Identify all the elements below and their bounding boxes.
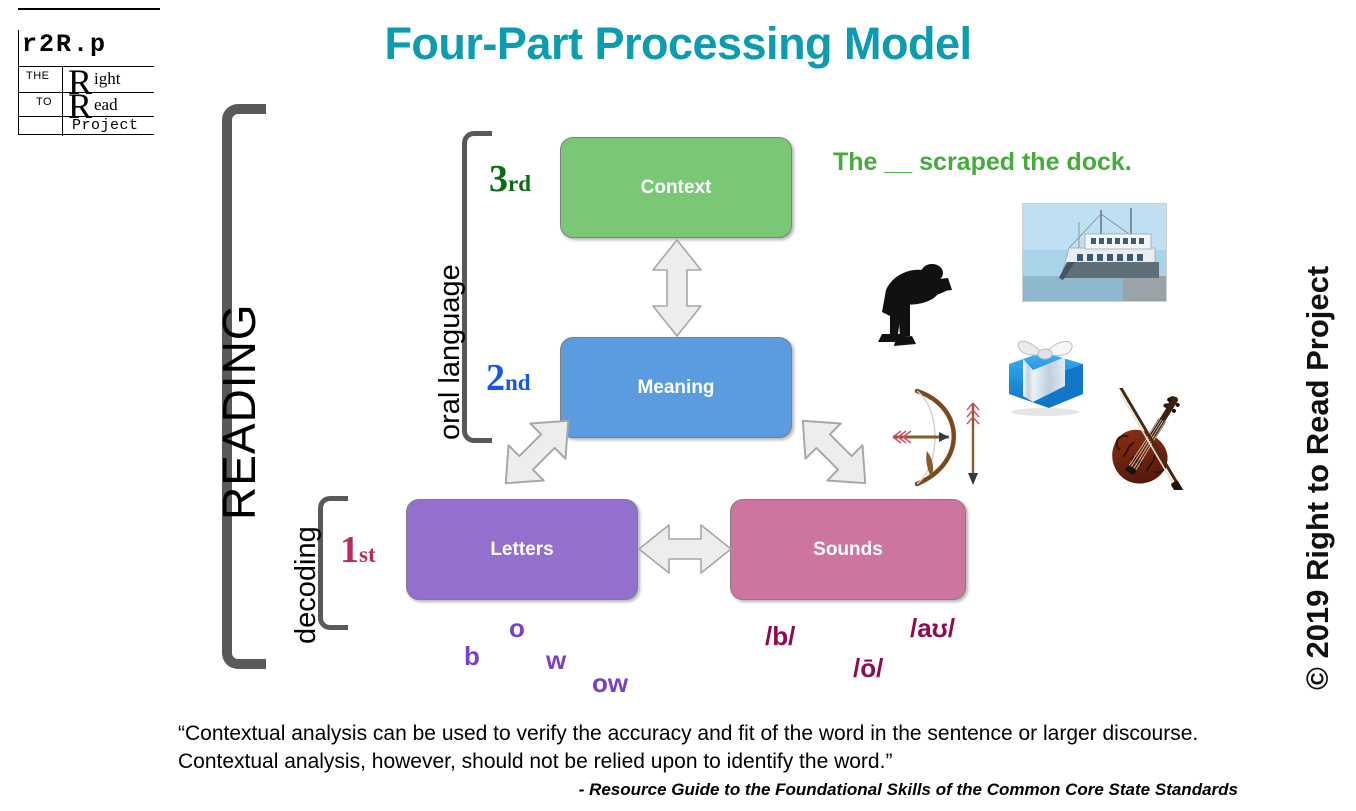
copyright-notice: © 2019 Right to Read Project [1300, 266, 1336, 690]
ordinal-second-number: 2 [486, 357, 505, 399]
decoding-label: decoding [290, 526, 323, 644]
logo-rule-4 [18, 134, 154, 135]
ordinal-third: 3rd [489, 157, 531, 201]
ordinal-second: 2nd [486, 356, 531, 400]
page-title: Four-Part Processing Model [0, 18, 1356, 70]
ordinal-second-suffix: nd [505, 370, 531, 395]
node-meaning-label: Meaning [637, 377, 714, 399]
logo-word-project: Project [72, 118, 139, 133]
arrow-letters-sounds [637, 521, 733, 577]
quote-attribution: - Resource Guide to the Foundational Ski… [178, 780, 1238, 800]
grapheme-b: b [464, 641, 480, 672]
node-sounds[interactable]: Sounds [730, 499, 966, 600]
ordinal-first-number: 1 [340, 529, 359, 571]
archery-bow-icon [887, 385, 999, 490]
logo-the-label: THE [26, 70, 50, 82]
node-meaning[interactable]: Meaning [560, 337, 792, 438]
ordinal-third-number: 3 [489, 158, 508, 200]
node-letters-label: Letters [490, 539, 553, 561]
slide-canvas: r2R.p THE TO R ight R ead Project Four-P… [0, 0, 1356, 811]
oral-language-label: oral language [434, 264, 467, 440]
quote-text: “Contextual analysis can be used to veri… [178, 720, 1238, 776]
grapheme-ow: ow [592, 668, 628, 699]
logo-top-rule [18, 8, 160, 10]
arrow-context-meaning [649, 238, 705, 338]
node-context[interactable]: Context [560, 137, 792, 238]
grapheme-o: o [509, 613, 525, 644]
logo-column-rule [62, 66, 63, 136]
violin-bow-icon [1088, 388, 1208, 490]
ordinal-third-suffix: rd [508, 171, 531, 196]
logo-to-label: TO [36, 96, 52, 108]
gift-bow-icon [993, 324, 1093, 416]
logo-word-read: ead [94, 96, 118, 113]
phoneme-b: /b/ [765, 621, 795, 652]
phoneme-o: /ō/ [853, 653, 883, 684]
logo-word-right: ight [94, 70, 120, 87]
node-sounds-label: Sounds [813, 539, 883, 561]
reading-label: READING [212, 303, 266, 520]
node-letters[interactable]: Letters [406, 499, 638, 600]
node-context-label: Context [641, 177, 712, 199]
arrow-meaning-letters [489, 404, 585, 500]
bowing-man-icon [868, 260, 972, 350]
arrow-meaning-sounds [786, 404, 882, 500]
ordinal-first-suffix: st [359, 542, 376, 567]
context-sentence: The __ scraped the dock. [833, 148, 1132, 177]
boat-icon [1022, 203, 1167, 302]
phoneme-au: /aʊ/ [910, 613, 955, 644]
ordinal-first: 1st [340, 528, 376, 572]
grapheme-w: w [546, 645, 566, 676]
